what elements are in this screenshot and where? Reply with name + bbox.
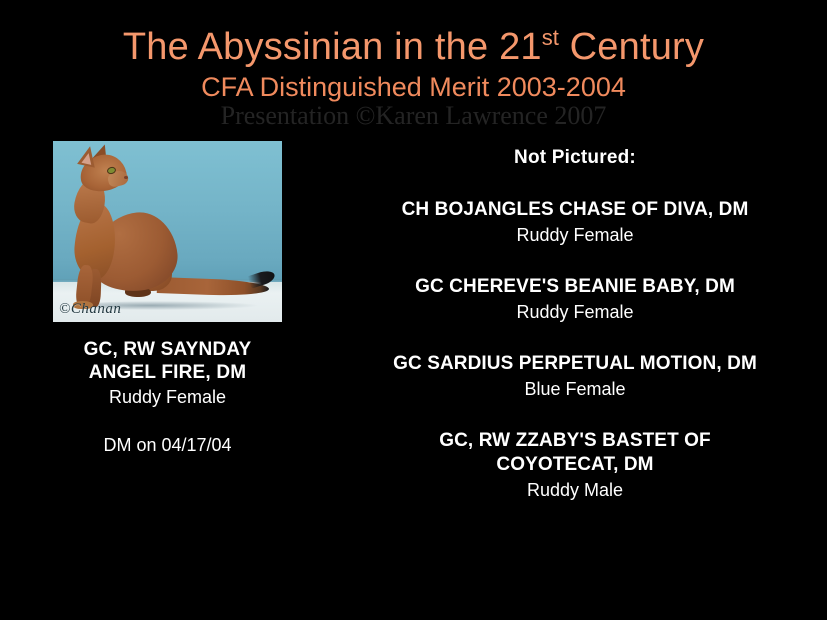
not-pictured-name-line1: CH BOJANGLES CHASE OF DIVA, DM xyxy=(330,198,820,222)
presentation-slide: The Abyssinian in the 21st Century CFA D… xyxy=(0,0,827,620)
not-pictured-description: Ruddy Female xyxy=(330,300,820,324)
photographer-signature: ©Chanan xyxy=(59,301,121,318)
list-item: CH BOJANGLES CHASE OF DIVA, DM Ruddy Fem… xyxy=(330,198,820,247)
slide-title-superscript: st xyxy=(542,25,559,50)
not-pictured-name-line2: COYOTECAT, DM xyxy=(330,453,820,477)
photo-backdrop xyxy=(53,141,282,322)
title-block: The Abyssinian in the 21st Century CFA D… xyxy=(0,16,827,103)
featured-cat-dm-date: DM on 04/17/04 xyxy=(10,433,325,457)
not-pictured-list: Not Pictured: CH BOJANGLES CHASE OF DIVA… xyxy=(330,146,820,502)
cat-nose xyxy=(124,176,128,179)
list-item: GC, RW ZZABY'S BASTET OF COYOTECAT, DM R… xyxy=(330,429,820,502)
not-pictured-name-line1: GC SARDIUS PERPETUAL MOTION, DM xyxy=(330,352,820,376)
presentation-credit-watermark: Presentation ©Karen Lawrence 2007 xyxy=(0,101,827,131)
featured-cat-caption: GC, RW SAYNDAY ANGEL FIRE, DM Ruddy Fema… xyxy=(10,338,325,457)
not-pictured-heading: Not Pictured: xyxy=(330,146,820,170)
abyssinian-cat-illustration xyxy=(53,141,282,322)
slide-title: The Abyssinian in the 21st Century xyxy=(0,16,827,69)
slide-title-prefix: The Abyssinian in the 21 xyxy=(123,26,542,68)
not-pictured-description: Ruddy Female xyxy=(330,223,820,247)
list-item: GC SARDIUS PERPETUAL MOTION, DM Blue Fem… xyxy=(330,352,820,401)
not-pictured-description: Blue Female xyxy=(330,377,820,401)
list-item: GC CHEREVE'S BEANIE BABY, DM Ruddy Femal… xyxy=(330,275,820,324)
featured-cat-description: Ruddy Female xyxy=(10,385,325,409)
not-pictured-description: Ruddy Male xyxy=(330,478,820,502)
not-pictured-name-line1: GC, RW ZZABY'S BASTET OF xyxy=(330,429,820,453)
not-pictured-name-line1: GC CHEREVE'S BEANIE BABY, DM xyxy=(330,275,820,299)
slide-title-suffix: Century xyxy=(559,26,704,68)
slide-subtitle: CFA Distinguished Merit 2003-2004 xyxy=(0,71,827,103)
featured-cat-name-line2: ANGEL FIRE, DM xyxy=(10,361,325,384)
featured-cat-name-line1: GC, RW SAYNDAY xyxy=(10,338,325,361)
cat-photo: ©Chanan xyxy=(53,141,282,322)
